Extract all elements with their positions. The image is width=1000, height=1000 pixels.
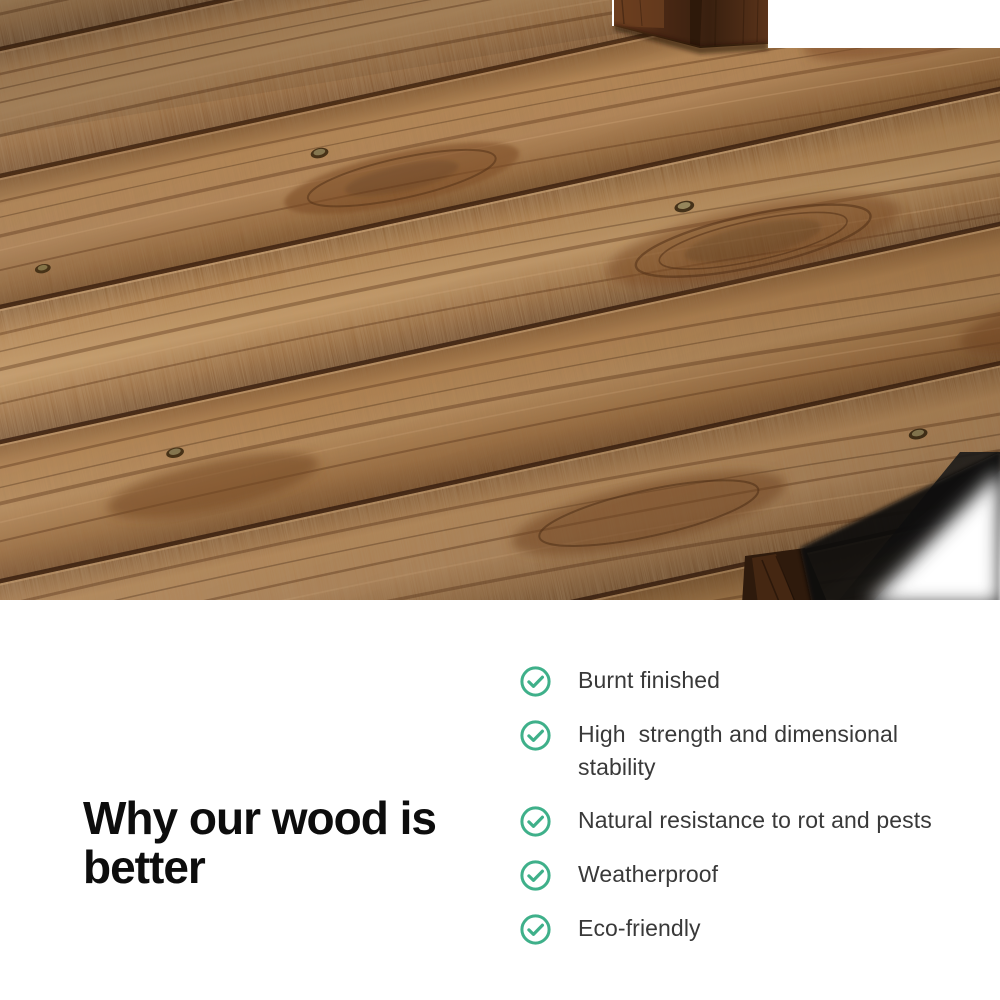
feature-list: Burnt finished High strength and dimensi…: [519, 664, 989, 946]
feature-label: Weatherproof: [578, 858, 718, 891]
check-circle-glyph: [519, 913, 552, 946]
check-circle-icon: [519, 913, 552, 946]
list-item: Burnt finished: [519, 664, 989, 698]
check-circle-glyph: [519, 719, 552, 752]
product-feature-page: Why our wood is better Burnt finished Hi…: [0, 0, 1000, 1000]
check-circle-icon: [519, 665, 552, 698]
feature-label: High strength and dimensional stability: [578, 718, 978, 784]
check-circle-icon: [519, 859, 552, 892]
check-circle-icon: [519, 805, 552, 838]
check-circle-glyph: [519, 805, 552, 838]
wood-photo-svg: [0, 0, 1000, 604]
wood-table-photo: [0, 0, 1000, 604]
list-item: Natural resistance to rot and pests: [519, 804, 989, 838]
feature-label: Natural resistance to rot and pests: [578, 804, 932, 837]
list-item: Eco-friendly: [519, 912, 989, 946]
check-circle-glyph: [519, 665, 552, 698]
check-circle-icon: [519, 719, 552, 752]
page-title-line-1: Why our wood is: [83, 794, 483, 843]
page-title-line-2: better: [83, 843, 483, 892]
list-item: Weatherproof: [519, 858, 989, 892]
feature-label: Eco-friendly: [578, 912, 701, 945]
check-circle-glyph: [519, 859, 552, 892]
list-item: High strength and dimensional stability: [519, 718, 989, 784]
feature-label: Burnt finished: [578, 664, 720, 697]
page-title: Why our wood is better: [83, 794, 483, 892]
